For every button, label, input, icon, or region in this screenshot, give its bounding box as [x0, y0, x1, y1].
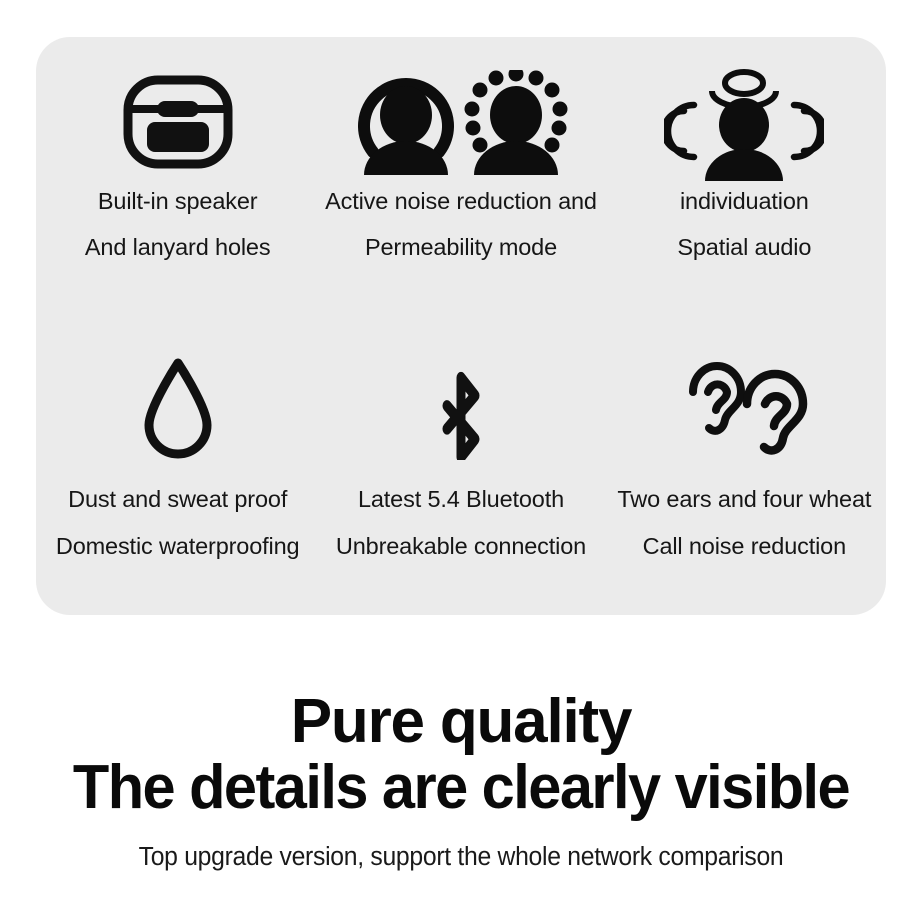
- feature-caption-line-1: Two ears and four wheat: [617, 488, 871, 512]
- feature-caption-line-2: Domestic waterproofing: [56, 535, 300, 559]
- feature-caption-line-2: Permeability mode: [365, 236, 557, 260]
- feature-caption-line-1: Built-in speaker: [98, 190, 258, 214]
- feature-item-waterproof: Dust and sweat proof Domestic waterproof…: [36, 326, 319, 615]
- feature-card: Built-in speaker And lanyard holes: [36, 37, 886, 615]
- feature-item-two-ears: Two ears and four wheat Call noise reduc…: [603, 326, 886, 615]
- feature-item-bluetooth: Latest 5.4 Bluetooth Unbreakable connect…: [319, 326, 602, 615]
- spatial-audio-person-icon: [664, 63, 824, 181]
- feature-caption-line-2: Unbreakable connection: [336, 535, 586, 559]
- feature-caption-line-1: Dust and sweat proof: [68, 488, 287, 512]
- feature-caption-line-2: And lanyard holes: [85, 236, 271, 260]
- headline-secondary: The details are clearly visible: [18, 754, 903, 822]
- headline-primary: Pure quality: [0, 690, 922, 754]
- headline-block: Pure quality The details are clearly vis…: [0, 690, 922, 872]
- feature-caption-line-2: Spatial audio: [677, 236, 811, 260]
- feature-grid: Built-in speaker And lanyard holes: [36, 37, 886, 615]
- feature-caption-line-1: Active noise reduction and: [325, 190, 597, 214]
- feature-item-noise-reduction: Active noise reduction and Permeability …: [319, 37, 602, 326]
- infographic-page: Built-in speaker And lanyard holes: [0, 0, 922, 922]
- feature-caption-line-1: individuation: [680, 190, 809, 214]
- earbud-case-icon: [119, 63, 237, 181]
- water-droplet-icon: [141, 352, 215, 464]
- feature-caption-line-1: Latest 5.4 Bluetooth: [358, 488, 564, 512]
- feature-item-spatial-audio: individuation Spatial audio: [603, 37, 886, 326]
- noise-reduction-persons-icon: [346, 63, 576, 181]
- two-ears-icon: [679, 352, 809, 464]
- bluetooth-icon: [421, 352, 501, 464]
- headline-subtitle: Top upgrade version, support the whole n…: [14, 842, 908, 872]
- feature-item-builtin-speaker: Built-in speaker And lanyard holes: [36, 37, 319, 326]
- feature-caption-line-2: Call noise reduction: [643, 535, 846, 559]
